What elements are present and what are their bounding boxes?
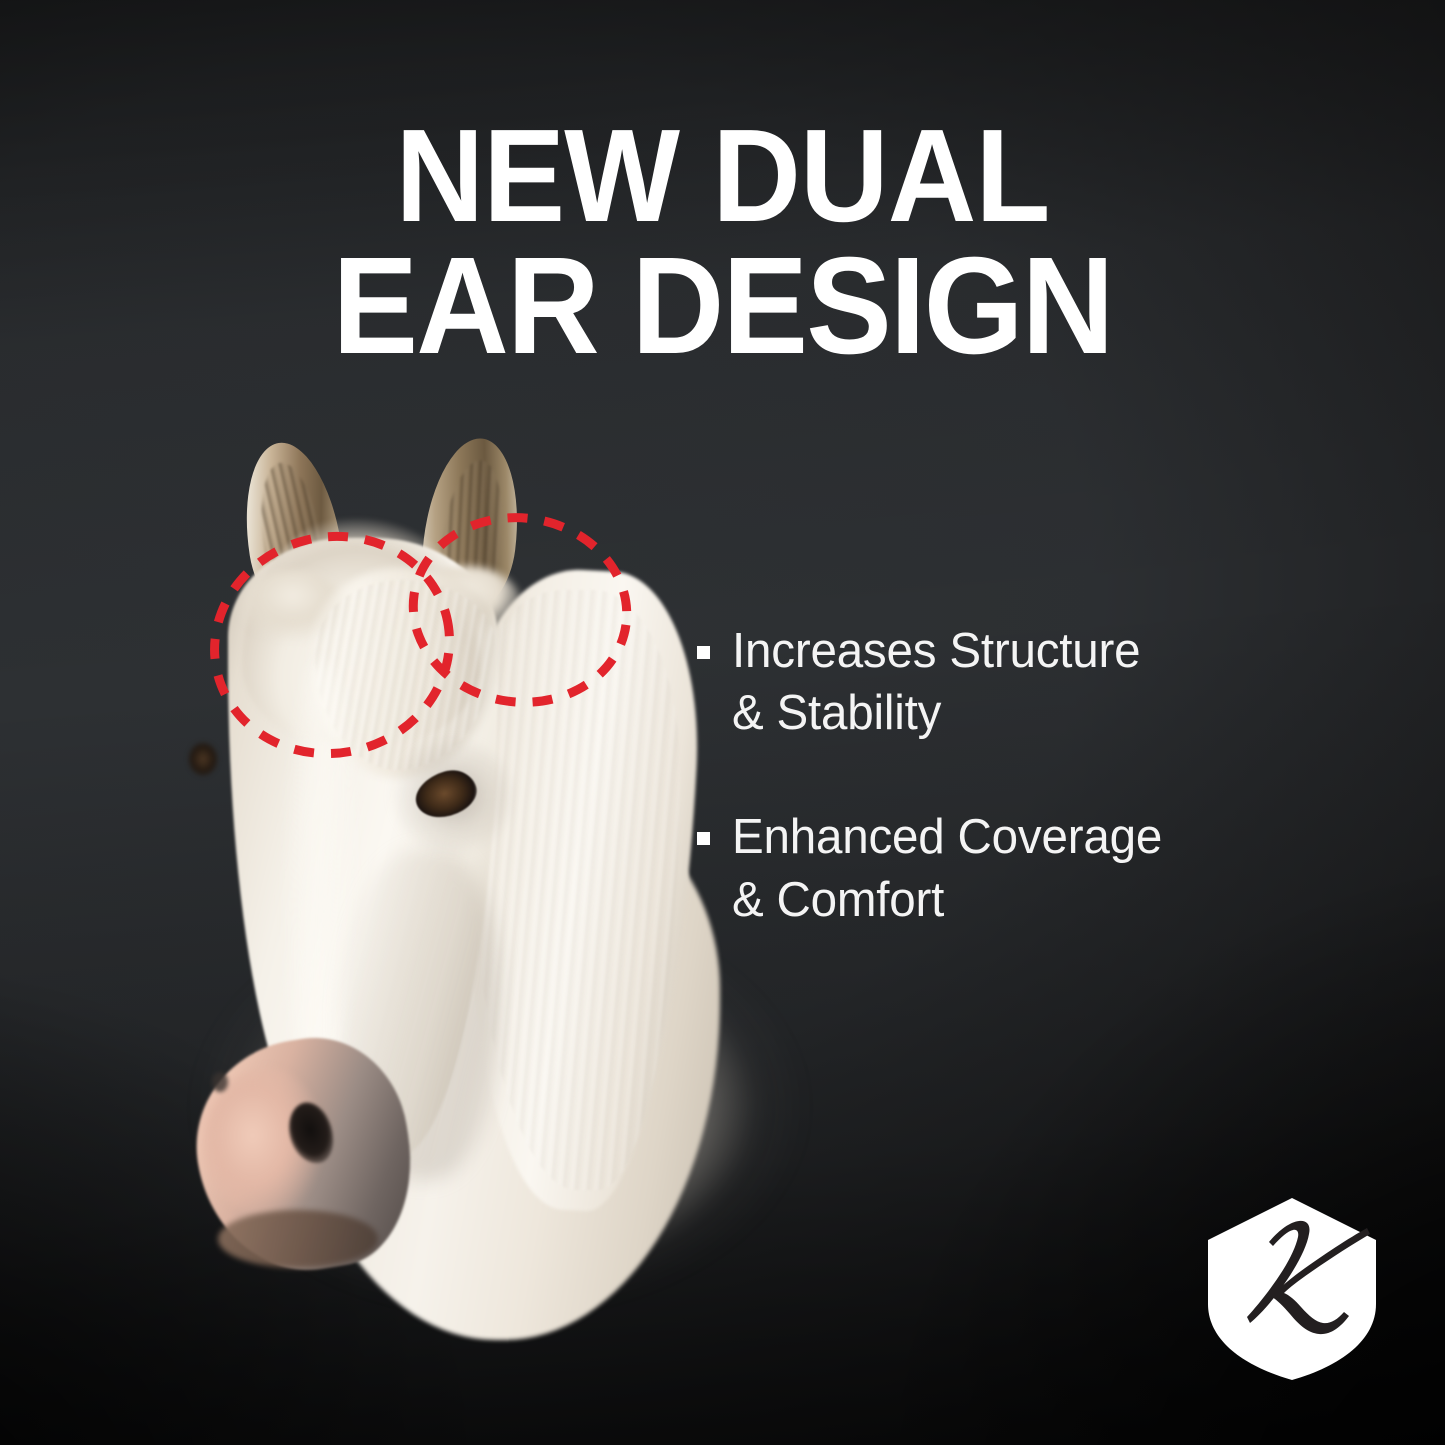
list-item: Increases Structure & Stability [697,620,1347,744]
horse-nostril-far [212,1072,228,1092]
horse-eye-far-side [188,742,218,776]
feature-1-text: Increases Structure & Stability [732,620,1140,744]
feature-2-text: Enhanced Coverage & Comfort [732,806,1162,930]
brand-logo [1203,1196,1381,1382]
square-bullet-icon [697,832,710,845]
headline-line-2: EAR DESIGN [116,240,1330,374]
feature-1-line-1: Increases Structure [732,624,1140,678]
feature-2-line-2: & Comfort [732,873,944,927]
list-item: Enhanced Coverage & Comfort [697,806,1347,930]
headline-line-1: NEW DUAL [116,112,1330,240]
square-bullet-icon [697,646,710,659]
feature-1-line-2: & Stability [732,686,941,740]
feature-2-line-1: Enhanced Coverage [732,810,1162,864]
marketing-poster: NEW DUAL EAR DESIGN [0,0,1445,1445]
headline: NEW DUAL EAR DESIGN [51,112,1395,374]
horse-chin-shadow [218,1210,378,1268]
feature-list: Increases Structure & Stability Enhanced… [697,620,1347,993]
